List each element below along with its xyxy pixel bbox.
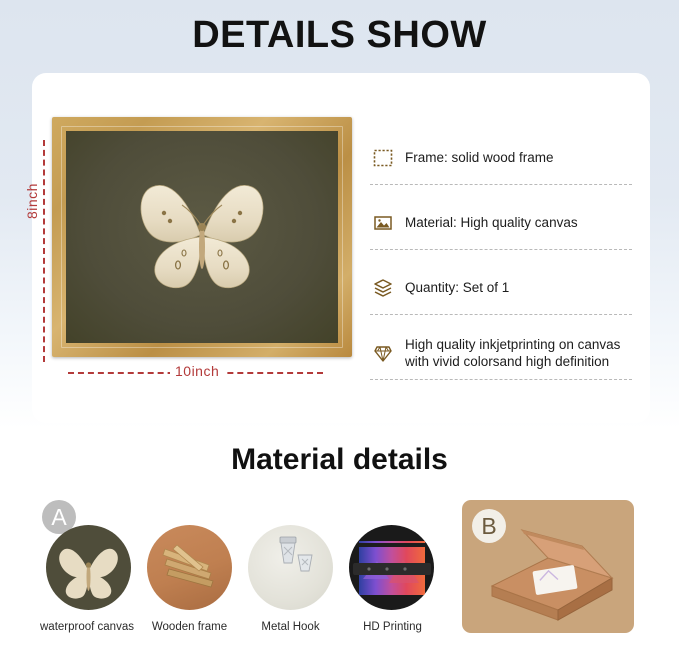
feature-divider (370, 379, 632, 380)
feature-row-printing: High quality inkjetprinting on canvas wi… (370, 329, 632, 379)
thumb-caption: Metal Hook (248, 621, 333, 633)
thumb-caption: Wooden frame (147, 621, 232, 633)
feature-row-material: Material: High quality canvas (370, 199, 632, 249)
spacer (370, 315, 632, 329)
feature-label: Material: High quality canvas (405, 214, 578, 231)
spacer (370, 250, 632, 264)
material-thumb-hook[interactable]: Metal Hook (248, 525, 333, 633)
diamond-icon (370, 340, 396, 366)
material-thumb-canvas[interactable]: waterproof canvas (46, 525, 131, 633)
canvas-swatch (46, 525, 131, 610)
frame-icon (370, 145, 396, 171)
printer-swatch (349, 525, 434, 610)
material-section-title: Material details (0, 443, 679, 477)
artwork-mat (66, 131, 338, 343)
feature-row-quantity: Quantity: Set of 1 (370, 264, 632, 314)
height-guide-line (43, 140, 45, 362)
width-dimension-label: 10inch (170, 363, 224, 379)
picture-icon (370, 210, 396, 236)
layers-icon (370, 275, 396, 301)
badge-b: B (472, 509, 506, 543)
page-title: DETAILS SHOW (0, 14, 679, 57)
thumb-caption: HD Printing (351, 621, 434, 633)
material-thumb-wood[interactable]: Wooden frame (147, 525, 232, 633)
feature-list: Frame: solid wood frame Material: High q… (370, 134, 632, 380)
spacer (370, 185, 632, 199)
hook-swatch (248, 525, 333, 610)
wood-swatch (147, 525, 232, 610)
thumb-caption: waterproof canvas (40, 621, 131, 633)
material-thumb-printing[interactable]: HD Printing (349, 525, 434, 633)
material-thumbnail-list: waterproof canvas Wooden frame (46, 525, 446, 633)
feature-row-frame: Frame: solid wood frame (370, 134, 632, 184)
framed-artwork (52, 117, 352, 357)
feature-label: Quantity: Set of 1 (405, 279, 509, 296)
height-dimension-label: 8inch (24, 180, 40, 222)
product-detail-page: DETAILS SHOW (0, 0, 679, 650)
butterfly-illustration (122, 173, 282, 301)
feature-label: Frame: solid wood frame (405, 149, 554, 166)
feature-label: High quality inkjetprinting on canvas wi… (405, 336, 632, 371)
wood-frame (52, 117, 352, 357)
